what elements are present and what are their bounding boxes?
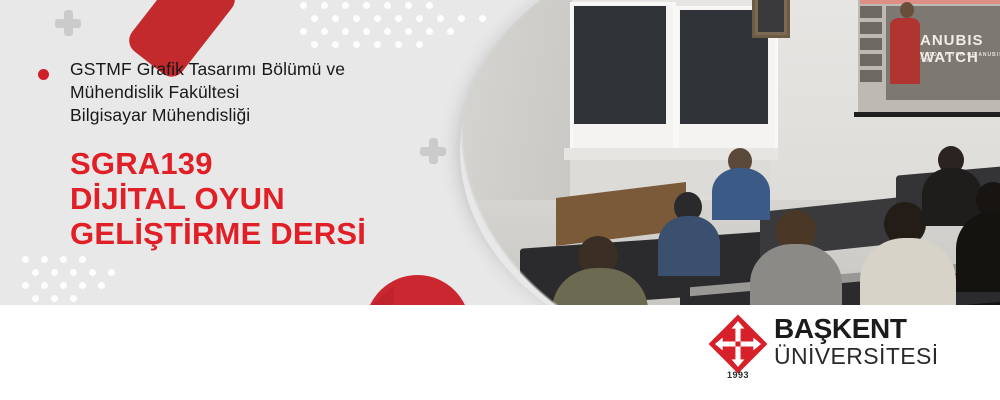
red-triangle-shape (372, 286, 394, 305)
classroom-scene: ANUBIS WATCH ELEVATOR PITCH OF ANUBIS WA… (460, 0, 1000, 305)
logo-year: 1993 (706, 370, 770, 380)
red-dot-bullet (38, 69, 49, 80)
classroom-photo: ANUBIS WATCH ELEVATOR PITCH OF ANUBIS WA… (440, 0, 1000, 305)
hero-background: ANUBIS WATCH ELEVATOR PITCH OF ANUBIS WA… (0, 0, 1000, 305)
logo-brand: BAŞKENT (774, 314, 939, 343)
course-code: SGRA139 (70, 146, 470, 181)
plus-icon-top-left (55, 10, 81, 36)
logo-wordmark: BAŞKENT ÜNİVERSİTESİ (774, 314, 939, 369)
baskent-emblem-icon (706, 312, 770, 376)
course-title: SGRA139 DİJİTAL OYUN GELİŞTİRME DERSİ (70, 146, 470, 251)
course-title-line-2: GELİŞTİRME DERSİ (70, 216, 470, 251)
course-banner: ANUBIS WATCH ELEVATOR PITCH OF ANUBIS WA… (0, 0, 1000, 400)
university-logo: 1993 BAŞKENT ÜNİVERSİTESİ (706, 312, 936, 386)
subtitle-line-3: Bilgisayar Mühendisliği (70, 104, 430, 127)
subtitle-line-2: Mühendislik Fakültesi (70, 81, 430, 104)
dot-pattern-bottom (22, 256, 132, 302)
subtitle-line-1: GSTMF Grafik Tasarımı Bölümü ve (70, 58, 430, 81)
slide-subtitle: ELEVATOR PITCH OF ANUBIS WATCH (908, 52, 1000, 64)
course-title-line-1: DİJİTAL OYUN (70, 181, 470, 216)
department-subtitle: GSTMF Grafik Tasarımı Bölümü ve Mühendis… (70, 58, 430, 127)
logo-subtitle: ÜNİVERSİTESİ (774, 343, 939, 369)
